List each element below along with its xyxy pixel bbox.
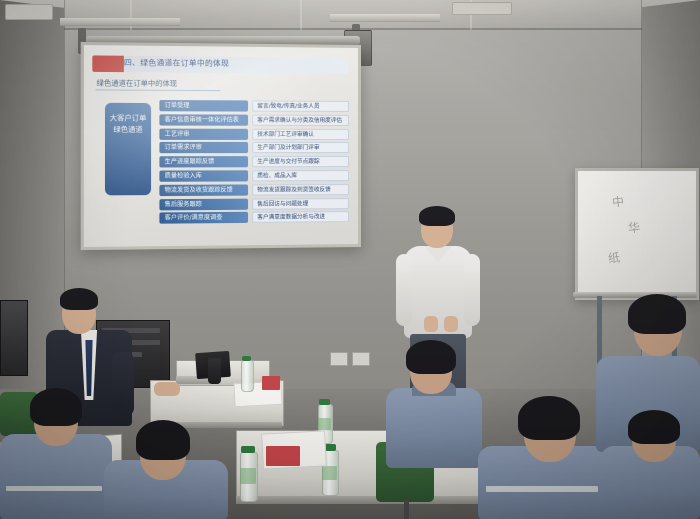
slide-row-label: 售后服务跟踪 — [159, 198, 248, 210]
suit-arm — [112, 352, 134, 416]
presenter-hand-left — [424, 316, 438, 332]
bottle-cap — [241, 446, 255, 453]
slide-left-block: 大客户订单绿色通道 — [105, 103, 151, 196]
attendee-torso — [386, 388, 482, 468]
slide-row: 物流发货及收货跟踪反馈 物流发货跟踪及到货签收反馈 — [159, 184, 349, 196]
whiteboard-tray — [573, 292, 697, 298]
slide-title-underline — [95, 89, 220, 91]
slide-row-label: 物流发货及收货跟踪反馈 — [159, 184, 248, 196]
whiteboard-mark: 纸 — [607, 248, 621, 266]
table-edge — [236, 496, 478, 504]
bottle-label — [240, 468, 256, 484]
reflective-stripe — [486, 486, 598, 492]
slide-row: 客户信息审核一体化评估表 客户需求确认与分类及信用度评估 — [159, 114, 349, 126]
reflective-stripe — [6, 486, 102, 491]
slide-row: 客户评价/满意度调查 客户满意度数据分析与改进 — [159, 211, 349, 224]
attendee-torso — [0, 434, 112, 519]
slide-row-label: 订单需求评审 — [159, 142, 248, 153]
wall-socket — [330, 352, 348, 366]
slide-row-value: 留言/致电/传真/业务人员 — [252, 100, 349, 111]
attendee-hair — [136, 420, 190, 460]
bottle-cap — [242, 356, 251, 361]
attendee-hair — [406, 340, 456, 374]
whiteboard: 中 华 纸 — [575, 168, 699, 300]
ceiling-grid-line — [300, 0, 302, 30]
slide-row: 质量检验入库 质检、成品入库 — [159, 170, 349, 182]
presenter-hair — [419, 206, 455, 226]
bottle-cap — [319, 399, 330, 405]
suited-man-hair — [60, 288, 98, 310]
slide-row-value: 生产进度与交付节点跟踪 — [252, 156, 349, 167]
thermos-cup — [208, 358, 221, 384]
projection-screen: 四、绿色通道在订单中的体现 绿色通道在订单中的体现 大客户订单绿色通道 订单受理… — [81, 42, 361, 250]
photo-scene: 四、绿色通道在订单中的体现 绿色通道在订单中的体现 大客户订单绿色通道 订单受理… — [0, 0, 700, 519]
ceiling-light — [5, 4, 53, 20]
slide-row-label: 工艺评审 — [159, 128, 248, 139]
slide-row: 订单受理 留言/致电/传真/业务人员 — [159, 100, 349, 112]
presenter-hand-right — [444, 316, 458, 332]
ceiling-beam — [60, 18, 180, 26]
whiteboard-mark: 华 — [627, 218, 641, 236]
slide-subtitle: 绿色通道在订单中的体现 — [97, 78, 178, 89]
presenter-arm-left — [396, 254, 412, 326]
side-equipment-rack — [0, 300, 28, 376]
slide-row-label: 订单受理 — [159, 100, 248, 112]
slide-row: 售后服务跟踪 售后回访与问题处理 — [159, 198, 349, 210]
slide-row-value: 质检、成品入库 — [252, 170, 349, 181]
slide-row: 订单需求评审 生产部门及计划部门评审 — [159, 142, 349, 153]
presenter-arm-right — [464, 254, 480, 326]
slide-row-label: 客户信息审核一体化评估表 — [159, 114, 248, 125]
slide-content: 四、绿色通道在订单中的体现 绿色通道在订单中的体现 大客户订单绿色通道 订单受理… — [84, 45, 358, 247]
ceiling-light — [452, 2, 512, 15]
slide-row-label: 生产进度跟踪反馈 — [159, 156, 248, 167]
slide-row-value: 客户需求确认与分类及信用度评估 — [252, 114, 349, 125]
water-bottle — [241, 360, 254, 392]
slide-row-value: 生产部门及计划部门评审 — [252, 142, 349, 153]
suited-man-hand — [154, 382, 180, 396]
slide-row-label: 客户评价/满意度调查 — [159, 212, 248, 224]
slide-flow-rows: 订单受理 留言/致电/传真/业务人员 客户信息审核一体化评估表 客户需求确认与分… — [159, 100, 349, 227]
attendee-hair — [628, 294, 686, 334]
slide-row-label: 质量检验入库 — [159, 170, 248, 181]
slide-row-value: 客户满意度数据分析与改进 — [252, 211, 349, 223]
attendee-hair — [628, 410, 680, 444]
whiteboard-mark: 中 — [611, 192, 625, 210]
red-document — [266, 446, 300, 466]
slide-row: 生产进度跟踪反馈 生产进度与交付节点跟踪 — [159, 156, 349, 167]
slide-row-value: 售后回访与问题处理 — [252, 198, 349, 210]
slide-row-value: 技术部门工艺评审确认 — [252, 128, 349, 139]
bottle-label — [318, 418, 331, 430]
slide-title: 四、绿色通道在订单中的体现 — [124, 57, 229, 69]
attendee-hair — [30, 388, 82, 426]
attendee-hair — [518, 396, 580, 440]
bottle-label — [322, 466, 337, 480]
wall-socket — [352, 352, 370, 366]
ceiling-beam — [330, 14, 440, 22]
chair-leg — [404, 500, 409, 519]
red-folder — [262, 376, 280, 390]
slide-row-value: 物流发货跟踪及到货签收反馈 — [252, 184, 349, 196]
slide-row: 工艺评审 技术部门工艺评审确认 — [159, 128, 349, 139]
